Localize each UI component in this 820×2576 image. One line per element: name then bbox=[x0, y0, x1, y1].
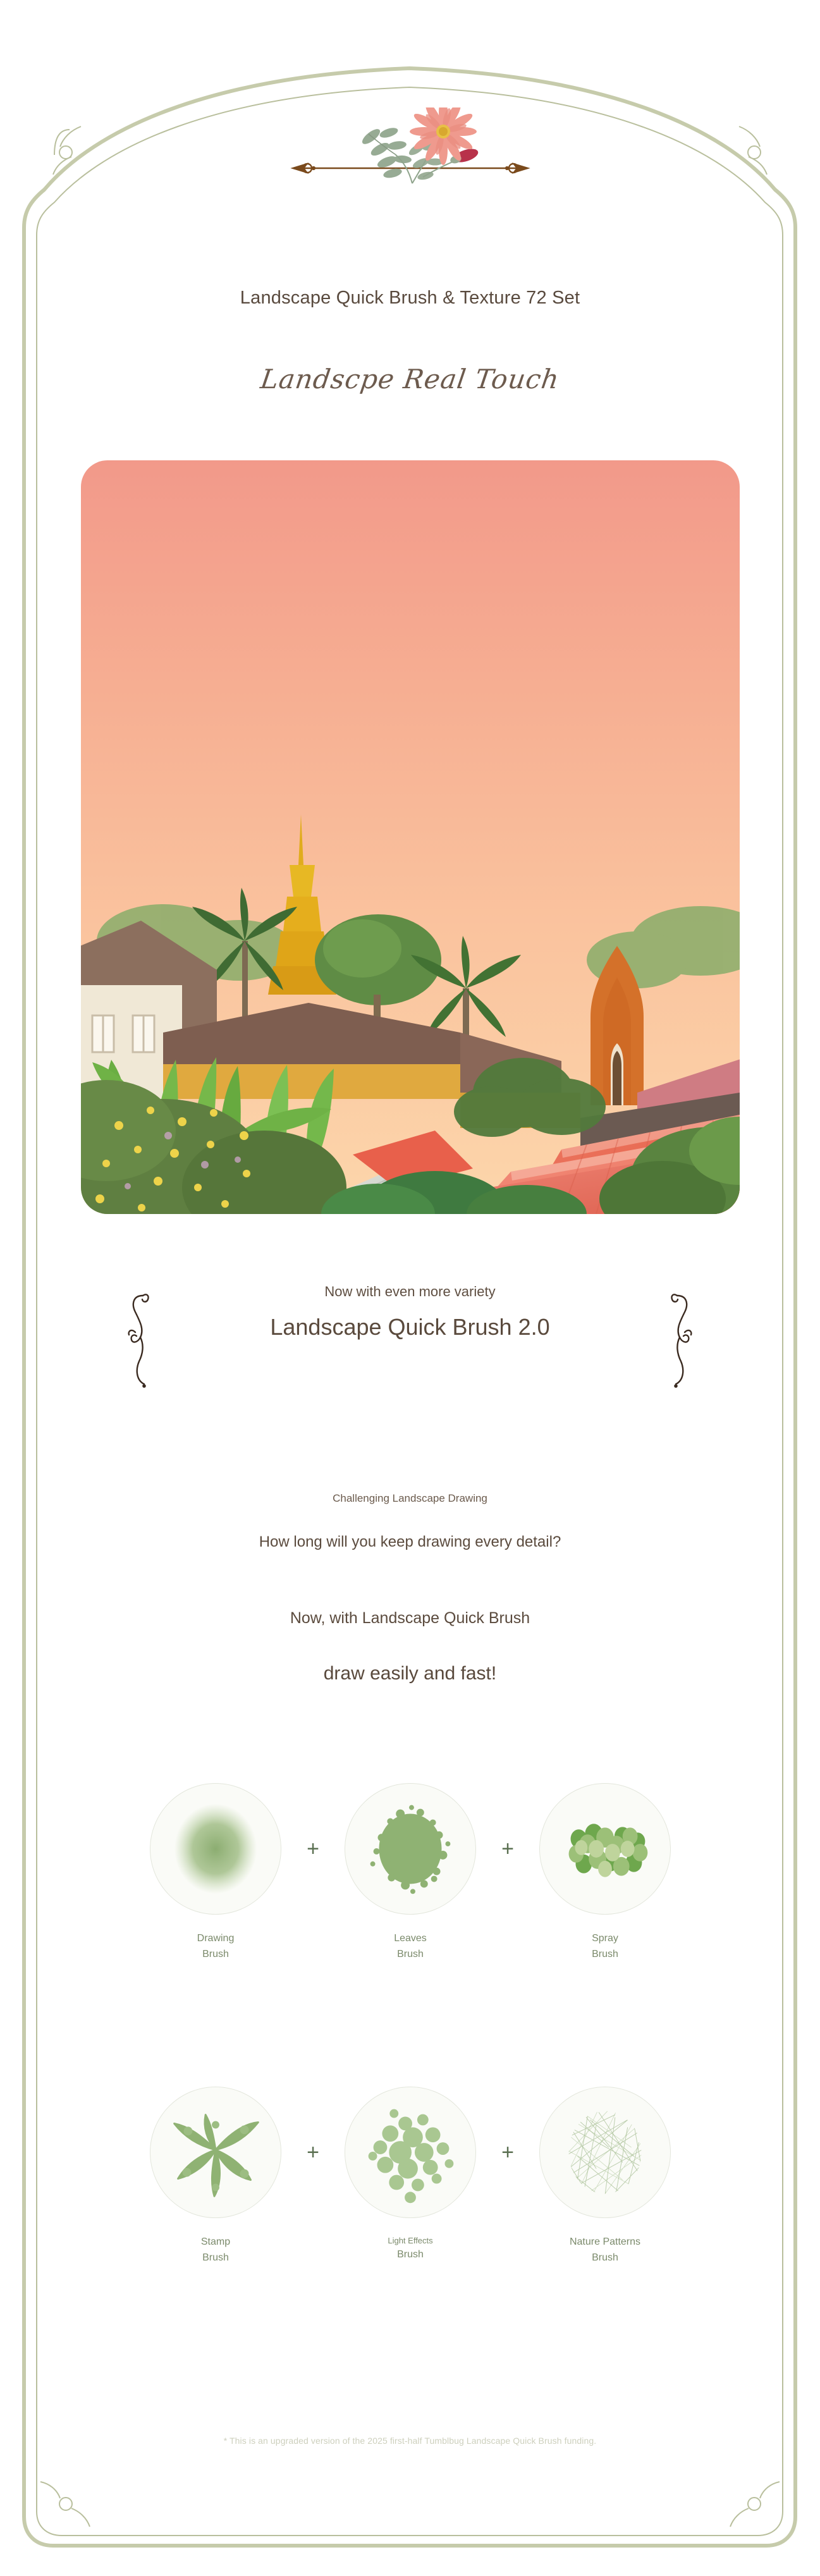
brush-label-line2: Brush bbox=[570, 2250, 640, 2266]
plus-icon-2: + bbox=[490, 1783, 525, 1915]
leaves-brush-swatch bbox=[345, 1783, 476, 1915]
plus-icon-4: + bbox=[490, 2087, 525, 2218]
drawing-brush-swatch bbox=[150, 1783, 281, 1915]
stamp-brush-swatch bbox=[150, 2087, 281, 2218]
divider-rule bbox=[291, 163, 529, 173]
pitch-now-line: Now, with Landscape Quick Brush bbox=[0, 1609, 820, 1628]
nature-patterns-brush-swatch bbox=[539, 2087, 671, 2218]
plus-icon-3: + bbox=[295, 2087, 331, 2218]
brush-item-nature-patterns[interactable]: Nature Patterns Brush bbox=[525, 2087, 685, 2266]
brush-label-line1: Light Effects bbox=[388, 2235, 432, 2247]
pitch-fast-line: draw easily and fast! bbox=[0, 1663, 820, 1684]
brush-row-2: Stamp Brush + bbox=[81, 2087, 740, 2266]
brush-label-line1: Nature Patterns bbox=[570, 2235, 640, 2250]
brush-label-line2: Brush bbox=[388, 2247, 432, 2263]
brush-item-leaves[interactable]: Leaves Brush bbox=[331, 1783, 490, 1963]
brush-label-line1: Stamp bbox=[201, 2235, 230, 2250]
brush-label-line1: Leaves bbox=[394, 1931, 427, 1947]
leaf-cluster-left bbox=[360, 126, 412, 180]
brush-label-leaves: Leaves Brush bbox=[394, 1931, 427, 1963]
landscape-illustration bbox=[81, 460, 740, 1214]
footnote-text: * This is an upgraded version of the 202… bbox=[0, 2436, 820, 2446]
variety-subtitle: Now with even more variety bbox=[0, 1284, 820, 1300]
pitch-question: How long will you keep drawing every det… bbox=[0, 1533, 820, 1551]
brush-item-drawing[interactable]: Drawing Brush bbox=[136, 1783, 295, 1963]
brush-row-1: Drawing Brush + bbox=[81, 1783, 740, 1963]
brush-label-line1: Drawing bbox=[197, 1931, 235, 1947]
pitch-eyebrow: Challenging Landscape Drawing bbox=[0, 1492, 820, 1505]
page-content: Landscape Quick Brush & Texture 72 Set L… bbox=[0, 0, 820, 2576]
brush-label-stamp: Stamp Brush bbox=[201, 2235, 230, 2266]
floral-divider-ornament bbox=[233, 107, 587, 196]
brush-label-line2: Brush bbox=[394, 1947, 427, 1963]
brush-label-light-effects: Light Effects Brush bbox=[388, 2235, 432, 2263]
script-subtitle: Landscpe Real Touch bbox=[0, 364, 820, 395]
variety-title: Landscape Quick Brush 2.0 bbox=[0, 1314, 820, 1340]
brush-label-line2: Brush bbox=[592, 1947, 618, 1963]
page-title: Landscape Quick Brush & Texture 72 Set bbox=[0, 288, 820, 309]
brush-label-spray: Spray Brush bbox=[592, 1931, 618, 1963]
light-effects-brush-swatch bbox=[345, 2087, 476, 2218]
brush-label-line1: Spray bbox=[592, 1931, 618, 1947]
brush-item-light-effects[interactable]: Light Effects Brush bbox=[331, 2087, 490, 2263]
spray-brush-swatch bbox=[539, 1783, 671, 1915]
plus-icon-1: + bbox=[295, 1783, 331, 1915]
brush-item-stamp[interactable]: Stamp Brush bbox=[136, 2087, 295, 2266]
brush-label-line2: Brush bbox=[197, 1947, 235, 1963]
brush-item-spray[interactable]: Spray Brush bbox=[525, 1783, 685, 1963]
brush-label-nature-patterns: Nature Patterns Brush bbox=[570, 2235, 640, 2266]
variety-band: Now with even more variety Landscape Qui… bbox=[0, 1284, 820, 1340]
brush-label-drawing: Drawing Brush bbox=[197, 1931, 235, 1963]
brush-label-line2: Brush bbox=[201, 2250, 230, 2266]
